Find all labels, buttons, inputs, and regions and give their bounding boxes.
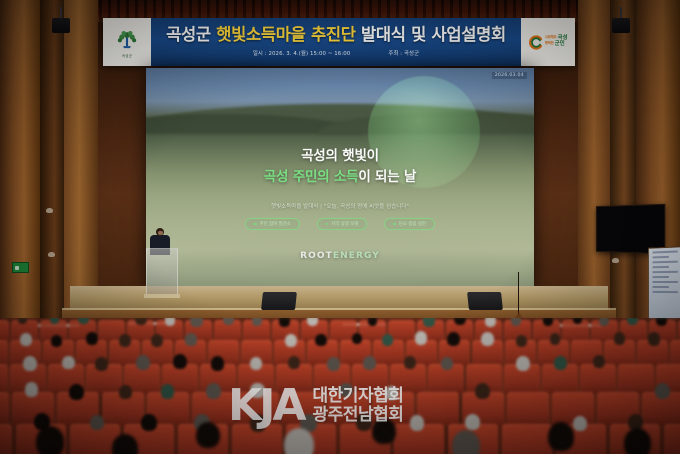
banner-host: 주최 : 곡성군 (388, 49, 419, 57)
pill-dot-icon (393, 223, 396, 226)
slide-caption: 햇빛소득마을 발대식 | "오늘, 곡성의 땅에 씨앗을 심습니다" (146, 202, 534, 210)
pill-dot-icon (326, 223, 329, 226)
audience-member-foreground (452, 430, 480, 454)
audience-member (307, 318, 319, 326)
kja-org-name: 대한기자협회 광주전남협회 (313, 387, 404, 424)
stage-monitor-left (261, 292, 297, 310)
audience-member (190, 318, 202, 327)
audience-member (614, 332, 626, 345)
audience-member (655, 383, 670, 399)
slide-headline-rest: 이 되는 날 (358, 169, 416, 185)
auditorium-seat (618, 364, 654, 394)
slide-pill-row: 주민 참여 발전소 지역 상생 모델 탄소 중립 실현 (146, 218, 534, 230)
audience-member (475, 383, 490, 399)
audience-member (136, 355, 150, 370)
audience-member (441, 357, 453, 370)
slide-pill-1-label: 주민 참여 발전소 (260, 221, 291, 227)
notice-line (653, 286, 669, 288)
audience-member (368, 318, 378, 326)
audience-member (410, 415, 424, 430)
exit-sign (12, 262, 29, 273)
banner-text-area: 곡성군 햇빛소득마을 추진단 발대식 및 사업설명회 일시 : 2026. 3.… (151, 18, 521, 66)
wordmark-small-2: 행복한 (545, 42, 554, 48)
wall-light-dome (46, 208, 53, 213)
tree-emblem-icon (114, 26, 140, 52)
notice-line (653, 256, 669, 259)
wall-light-dome (48, 252, 55, 257)
audience-member (648, 332, 661, 346)
notice-line (653, 281, 678, 283)
notice-line (653, 291, 678, 293)
audience-member (185, 333, 196, 345)
audience-member (454, 318, 466, 325)
wordmark-sub: 군민 (555, 42, 565, 48)
audience-member (315, 334, 326, 346)
photo-canvas: 곡성군 곡성군 햇빛소득마을 추진단 발대식 및 사업설명회 일시 : 2026… (0, 0, 680, 454)
audience-member (550, 333, 561, 345)
audience-member (511, 318, 522, 326)
slide-pill-2: 지역 상생 모델 (317, 218, 368, 230)
brand-root: ROOT (300, 251, 333, 261)
audience-member (25, 382, 38, 396)
banner-title-highlight2: 추진단 (311, 25, 356, 44)
audience-member (423, 318, 435, 327)
notice-line (653, 261, 678, 264)
podium (146, 248, 178, 296)
event-banner: 곡성군 곡성군 햇빛소득마을 추진단 발대식 및 사업설명회 일시 : 2026… (103, 18, 575, 66)
banner-datetime: 일시 : 2026. 3. 4.(월) 15:00 ~ 16:00 (253, 49, 351, 57)
slide-headline-line2: 곡성 주민의 소득이 되는 날 (146, 169, 534, 185)
auditorium-seat (0, 320, 9, 342)
emblem-caption: 곡성군 (122, 53, 133, 58)
audience-member-foreground (624, 428, 651, 454)
slide-date-badge: 2026.03.04 (492, 72, 527, 79)
audience-member (516, 335, 528, 347)
audience-member (543, 318, 554, 326)
audience-member (119, 385, 132, 399)
audience-member (573, 416, 587, 432)
audience-member (285, 334, 298, 348)
slide-pill-2-label: 지역 상생 모델 (331, 221, 358, 227)
swoosh-icon (528, 35, 543, 50)
speaker-face (158, 231, 163, 235)
slide-pill-3: 탄소 중립 실현 (384, 218, 435, 230)
audience-member (206, 383, 221, 400)
audience-member (161, 384, 175, 399)
banner-subline: 일시 : 2026. 3. 4.(월) 15:00 ~ 16:00 주최 : 곡… (253, 49, 419, 57)
root-energy-logo: ROOTENERGY (146, 251, 534, 261)
banner-title-part3: 발대식 및 사업설명회 (356, 25, 506, 44)
audience-member (141, 414, 157, 431)
audience-member (23, 356, 37, 371)
banner-title-part1: 곡성군 (166, 25, 216, 44)
kja-org-line1: 대한기자협회 (313, 387, 404, 405)
notice-line (653, 271, 678, 273)
audience-member (95, 357, 108, 371)
slide-pill-3-label: 탄소 중립 실현 (399, 221, 426, 227)
audience-member (20, 333, 32, 346)
auditorium-seat (507, 392, 549, 426)
audience-member (352, 333, 363, 345)
kja-logo-text: KJA (228, 386, 304, 426)
slide-pill-1: 주민 참여 발전소 (245, 218, 300, 230)
audience-member (90, 415, 104, 430)
audience-member (415, 331, 427, 344)
audience-member-foreground (196, 422, 220, 448)
audience-member (363, 356, 376, 370)
auditorium-seat (0, 424, 12, 454)
auditorium-seat (580, 364, 616, 394)
auditorium-seat (670, 340, 680, 366)
audience-member (327, 357, 340, 371)
hanging-speaker-right-icon (612, 18, 630, 33)
audience-member (516, 356, 530, 371)
auditorium-seat (502, 424, 552, 454)
kja-org-line2: 광주전남협회 (313, 406, 404, 424)
projection-screen: 2026.03.04 곡성의 햇빛이 곡성 주민의 소득이 되는 날 햇빛소득마… (146, 68, 534, 290)
audience-member (51, 335, 62, 347)
audience-member (165, 318, 176, 326)
slide-headline-highlight: 곡성 주민의 소득 (264, 169, 359, 185)
audience-member (481, 332, 494, 346)
brand-energy: ENERGY (333, 251, 380, 261)
wall-notice-board (648, 246, 680, 322)
audience-member (554, 356, 567, 370)
auditorium-seat (0, 392, 9, 426)
audience-member (288, 356, 300, 369)
audience-member (447, 332, 460, 346)
audience-member (211, 356, 225, 371)
audience-member (173, 354, 187, 369)
hanging-speaker-left-icon (52, 18, 70, 33)
audience-member (382, 334, 393, 346)
mic-stand-pole (518, 272, 519, 316)
slide-headline-line1: 곡성의 햇빛이 (146, 148, 534, 164)
auditorium-seat (0, 364, 8, 394)
audience-member (485, 318, 496, 327)
pill-dot-icon (254, 223, 257, 226)
notice-line (653, 266, 669, 268)
audience-member (119, 334, 131, 347)
audience-member (86, 332, 98, 345)
notice-line (653, 250, 678, 253)
auditorium-seat (664, 424, 680, 454)
gokseong-emblem-logo: 곡성군 (103, 18, 151, 66)
audience-member (279, 318, 290, 327)
wall-light-dome (612, 258, 619, 263)
auditorium-seat (0, 340, 8, 366)
notice-line (653, 276, 669, 278)
audience-member (69, 384, 84, 400)
audience-member (465, 414, 480, 430)
audience-member-foreground (284, 428, 314, 454)
gokseong-wordmark-logo: 사랑해요 곡성 행복한 군민 (521, 18, 575, 66)
slide-headline: 곡성의 햇빛이 곡성 주민의 소득이 되는 날 (146, 148, 534, 185)
kja-watermark: KJA 대한기자협회 광주전남협회 (228, 386, 403, 426)
audience-member (250, 357, 262, 370)
banner-title-highlight1: 햇빛소득마을 (216, 25, 305, 44)
audience-member (62, 356, 74, 369)
audience-member-foreground (36, 426, 64, 454)
banner-title: 곡성군 햇빛소득마을 추진단 발대식 및 사업설명회 (166, 27, 506, 44)
stage-monitor-right (467, 292, 503, 310)
audience-member-foreground (548, 422, 574, 451)
audience-member (404, 356, 416, 369)
